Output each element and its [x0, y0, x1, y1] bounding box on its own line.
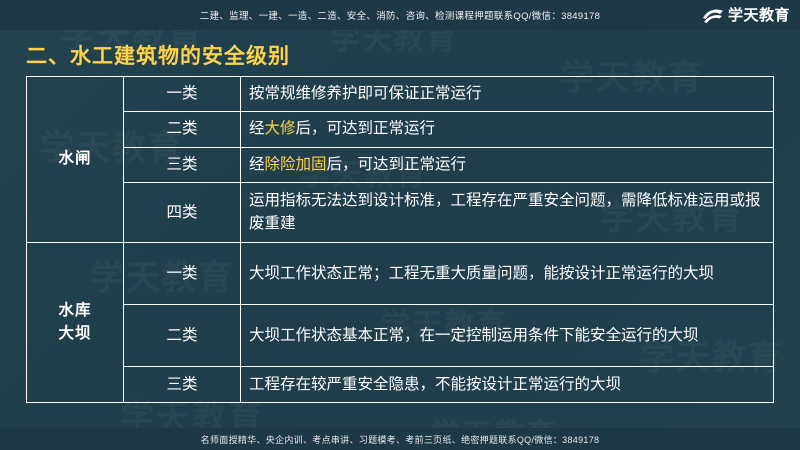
table-cell-description: 大坝工作状态正常；工程无重大质量问题，能按设计正常运行的大坝 [241, 243, 774, 305]
table-cell-level: 一类 [124, 243, 241, 305]
table-cell-level: 三类 [124, 367, 241, 403]
safety-level-table: 水闸一类按常规维修养护即可保证正常运行二类经大修后，可达到正常运行三类经除险加固… [26, 76, 774, 403]
table-row: 三类工程存在较严重安全隐患，不能按设计正常运行的大坝 [27, 367, 774, 403]
description-text: 工程存在较严重安全隐患，不能按设计正常运行的大坝 [249, 376, 621, 393]
table-cell-category: 水库大坝 [27, 243, 124, 403]
description-text: 经 [249, 156, 265, 173]
bottom-banner-text: 名师面授精华、央企内训、考点串讲、习题模考、考前三页纸、绝密押题联系QQ/微信：… [201, 433, 600, 446]
table-cell-level: 四类 [124, 183, 241, 243]
slide-canvas: 学天教育学天教育学天教育学天教育学天教育学天教育学天教育学天教育学天教育学天教育… [0, 0, 800, 450]
table-row: 四类运用指标无法达到设计标准，工程存在严重安全问题，需降低标准运用或报废重建 [27, 183, 774, 243]
bottom-banner: 名师面授精华、央企内训、考点串讲、习题模考、考前三页纸、绝密押题联系QQ/微信：… [0, 428, 800, 450]
description-text: 后，可达到正常运行 [296, 120, 436, 137]
table-cell-level: 二类 [124, 305, 241, 367]
description-text: 大坝工作状态正常；工程无重大质量问题，能按设计正常运行的大坝 [249, 265, 714, 282]
description-text: 大坝工作状态基本正常，在一定控制运用条件下能安全运行的大坝 [249, 327, 699, 344]
brand-logo: 学天教育 [702, 4, 790, 25]
highlighted-term: 除险加固 [265, 156, 327, 173]
swoosh-logo-icon [702, 5, 724, 25]
table-cell-level: 一类 [124, 77, 241, 112]
page-title: 二、水工建筑物的安全级别 [26, 40, 290, 70]
brand-logo-text: 学天教育 [728, 4, 790, 25]
table-row: 水库大坝一类大坝工作状态正常；工程无重大质量问题，能按设计正常运行的大坝 [27, 243, 774, 305]
description-text: 经 [249, 120, 265, 137]
table-cell-level: 二类 [124, 112, 241, 147]
highlighted-term: 大修 [265, 120, 296, 137]
table-cell-level: 三类 [124, 147, 241, 182]
table-row: 二类经大修后，可达到正常运行 [27, 112, 774, 147]
table-cell-category: 水闸 [27, 77, 124, 243]
table-row: 水闸一类按常规维修养护即可保证正常运行 [27, 77, 774, 112]
table-cell-description: 按常规维修养护即可保证正常运行 [241, 77, 774, 112]
table-cell-description: 运用指标无法达到设计标准，工程存在严重安全问题，需降低标准运用或报废重建 [241, 183, 774, 243]
description-text: 后，可达到正常运行 [327, 156, 467, 173]
table-cell-description: 工程存在较严重安全隐患，不能按设计正常运行的大坝 [241, 367, 774, 403]
table-row: 二类大坝工作状态基本正常，在一定控制运用条件下能安全运行的大坝 [27, 305, 774, 367]
top-banner: 二建、监理、一建、一造、二造、安全、消防、咨询、检测课程押题联系QQ/微信：38… [0, 0, 800, 30]
top-banner-text: 二建、监理、一建、一造、二造、安全、消防、咨询、检测课程押题联系QQ/微信：38… [200, 8, 600, 22]
description-text: 运用指标无法达到设计标准，工程存在严重安全问题，需降低标准运用或报废重建 [249, 192, 761, 231]
table-body: 水闸一类按常规维修养护即可保证正常运行二类经大修后，可达到正常运行三类经除险加固… [27, 77, 774, 403]
table-cell-description: 大坝工作状态基本正常，在一定控制运用条件下能安全运行的大坝 [241, 305, 774, 367]
table-cell-description: 经除险加固后，可达到正常运行 [241, 147, 774, 182]
description-text: 按常规维修养护即可保证正常运行 [249, 85, 482, 102]
table-row: 三类经除险加固后，可达到正常运行 [27, 147, 774, 182]
table-cell-description: 经大修后，可达到正常运行 [241, 112, 774, 147]
